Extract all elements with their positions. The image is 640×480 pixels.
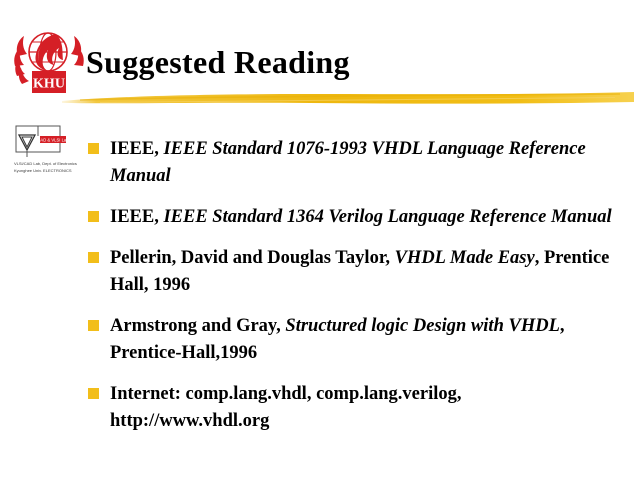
brushstroke-icon (60, 88, 636, 110)
reading-author: Internet: comp.lang.vhdl, comp.lang.veri… (110, 384, 462, 431)
page-title: Suggested Reading (86, 44, 350, 81)
reading-entry-2: IEEE, IEEE Standard 1364 Verilog Languag… (110, 207, 612, 227)
title-underline-brushstroke (60, 88, 636, 110)
lab-caption-line2: Kyunghee Univ. ELECTRONICS (14, 168, 72, 173)
reading-entry-1: IEEE, IEEE Standard 1076-1993 VHDL Langu… (110, 139, 586, 186)
lab-logo: CAD & VLSI Lab VLSI/CAD Lab, Dept. of El… (13, 124, 79, 180)
list-item: IEEE, IEEE Standard 1076-1993 VHDL Langu… (88, 136, 618, 190)
bullet-square-icon (88, 211, 99, 222)
reading-year: 1996 (153, 275, 190, 295)
slide-canvas: KHU Suggested Reading (0, 0, 640, 480)
reading-year: 1996 (220, 343, 257, 363)
list-item: Pellerin, David and Douglas Taylor, VHDL… (88, 245, 618, 299)
reading-entry-3: Pellerin, David and Douglas Taylor, VHDL… (110, 248, 609, 295)
lab-badge-label: CAD & VLSI Lab (37, 138, 69, 143)
reading-title: VHDL Made Easy (395, 248, 535, 268)
reading-entry-4: Armstrong and Gray, Structured logic Des… (110, 316, 565, 363)
list-item: IEEE, IEEE Standard 1364 Verilog Languag… (88, 204, 618, 231)
reading-entry-5: Internet: comp.lang.vhdl, comp.lang.veri… (110, 384, 462, 431)
list-item: Internet: comp.lang.vhdl, comp.lang.veri… (88, 381, 618, 435)
reading-title: Structured logic Design with VHDL (285, 316, 559, 336)
reading-author: Pellerin, David and Douglas Taylor, (110, 248, 390, 268)
reading-title: IEEE Standard 1364 Verilog Language Refe… (163, 207, 611, 227)
bullet-square-icon (88, 320, 99, 331)
list-item: Armstrong and Gray, Structured logic Des… (88, 313, 618, 367)
bullet-square-icon (88, 252, 99, 263)
reading-author: Armstrong and Gray, (110, 316, 281, 336)
reading-list: IEEE, IEEE Standard 1076-1993 VHDL Langu… (88, 136, 618, 435)
vlsi-lab-logo-icon: CAD & VLSI Lab VLSI/CAD Lab, Dept. of El… (13, 124, 79, 180)
reading-author: IEEE, (110, 139, 159, 159)
reading-title: IEEE Standard 1076-1993 VHDL Language Re… (110, 139, 586, 186)
bullet-square-icon (88, 388, 99, 399)
lab-caption-line1: VLSI/CAD Lab, Dept. of Electronics (14, 161, 77, 166)
bullet-square-icon (88, 143, 99, 154)
reading-author: IEEE, (110, 207, 159, 227)
